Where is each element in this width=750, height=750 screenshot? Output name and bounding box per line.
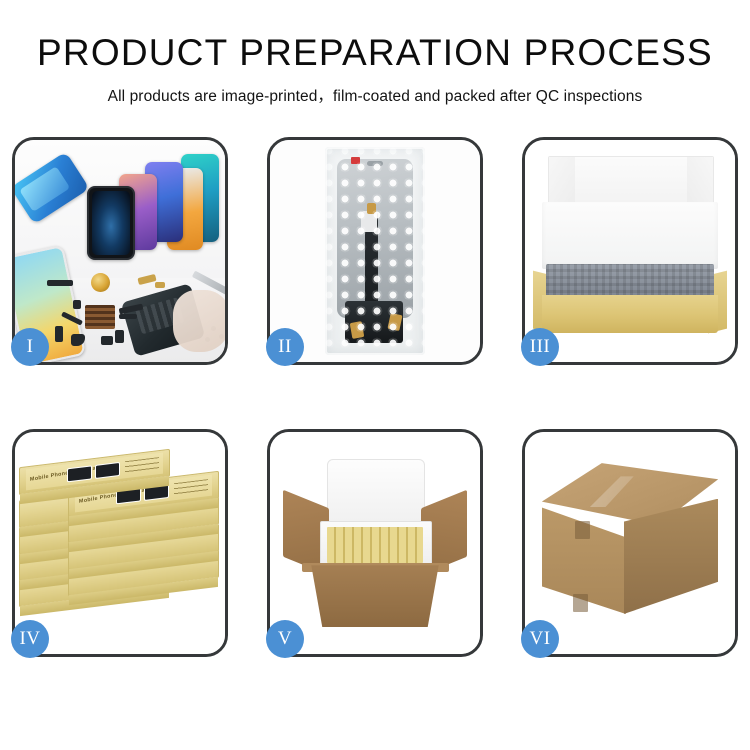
box-label-window-icon xyxy=(67,465,92,482)
step-badge-2: II xyxy=(266,328,304,366)
carton-tab-icon xyxy=(573,594,588,612)
process-step-card-4: Mobile Phone Spare Parts Mobile Phone Sp… xyxy=(12,429,228,657)
gold-contact-icon xyxy=(155,282,165,288)
box-label-window-icon xyxy=(95,462,120,479)
retail-box-printed-icon: Mobile Phone Spare Parts xyxy=(19,449,170,496)
earpiece-part-icon xyxy=(47,280,73,286)
connector-part-icon xyxy=(115,330,124,343)
process-step-card-6: VI xyxy=(522,429,738,657)
step-photo-open-yellow-box-with-foam xyxy=(525,140,735,362)
page-header: PRODUCT PREPARATION PROCESS All products… xyxy=(0,0,750,106)
flex-cable-icon xyxy=(119,314,137,319)
carton-tab-icon xyxy=(575,521,590,539)
chip-board-icon xyxy=(85,305,115,329)
page-title: PRODUCT PREPARATION PROCESS xyxy=(0,34,750,71)
box-label-spec-lines xyxy=(125,457,159,475)
step-photo-stacked-retail-boxes: Mobile Phone Spare Parts Mobile Phone Sp… xyxy=(15,432,225,654)
bag-edge-highlight xyxy=(325,147,426,356)
step-photo-sealed-shipping-carton xyxy=(525,432,735,654)
step-badge-1: I xyxy=(11,328,49,366)
page-subtitle: All products are image-printed，film-coat… xyxy=(0,84,750,106)
hand-icon xyxy=(173,290,225,352)
step-badge-3: III xyxy=(521,328,559,366)
speaker-coil-icon xyxy=(91,273,110,292)
step-badge-6: VI xyxy=(521,620,559,658)
step-photo-phone-screens-and-spare-parts xyxy=(15,140,225,362)
process-step-card-3: III xyxy=(522,137,738,365)
foam-sheet-icon xyxy=(542,202,718,269)
box-stack: Mobile Phone Spare Parts Mobile Phone Sp… xyxy=(19,454,221,640)
process-step-card-2: II xyxy=(267,137,483,365)
step-photo-bubble-wrapped-screen xyxy=(270,140,480,362)
small-part-icon xyxy=(73,300,81,309)
process-steps-grid: I II xyxy=(12,137,738,657)
foam-lid-icon xyxy=(327,459,426,528)
box-label-spec-lines xyxy=(173,479,207,497)
bubble-wrap-bag xyxy=(325,147,426,356)
step-badge-5: V xyxy=(266,620,304,658)
phone-black-glass-icon xyxy=(87,186,135,260)
flex-cable-icon xyxy=(55,326,63,342)
step-badge-4: IV xyxy=(11,620,49,658)
process-step-card-1: I xyxy=(12,137,228,365)
process-step-card-5: V xyxy=(267,429,483,657)
carton-body-icon xyxy=(306,565,445,627)
vibrator-part-icon xyxy=(101,336,113,345)
phone-screen-blue-icon xyxy=(15,152,90,225)
box-front-panel-icon xyxy=(542,295,718,333)
step-photo-carton-with-foam-insert xyxy=(270,432,480,654)
yellow-boxes-row-icon xyxy=(327,527,424,563)
